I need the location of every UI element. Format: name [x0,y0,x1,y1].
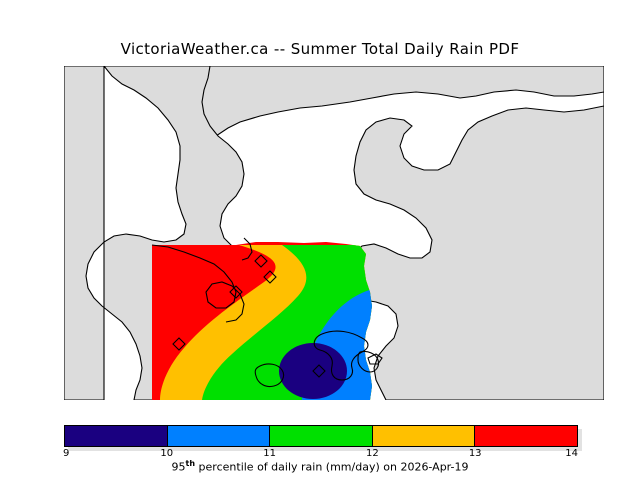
colorbar-tick-13: 13 [469,448,482,459]
colorbar-caption: 95th percentile of daily rain (mm/day) o… [0,459,640,474]
colorbar-band-13-14[interactable] [474,426,577,446]
colorbar-tick-11: 11 [263,448,276,459]
colorbar-tick-10: 10 [160,448,173,459]
map-graphic [64,66,604,400]
colorbar-tick-14: 14 [565,448,578,459]
contour-fill-layer [144,236,384,400]
colorbar-band-11-12[interactable] [269,426,372,446]
caption-prefix: 95 [172,461,186,474]
weather-map-figure: VictoriaWeather.ca -- Summer Total Daily… [0,0,640,480]
caption-superscript: th [186,459,196,468]
figure-title: VictoriaWeather.ca -- Summer Total Daily… [0,40,640,58]
colorbar-tick-9: 9 [63,448,69,459]
caption-suffix: percentile of daily rain (mm/day) on 202… [195,461,468,474]
colorbar-band-10-11[interactable] [167,426,270,446]
map-panel[interactable] [64,66,604,400]
colorbar-band-12-13[interactable] [372,426,475,446]
colorbar[interactable] [64,425,578,447]
colorbar-band-9-10[interactable] [65,426,167,446]
colorbar-tick-12: 12 [366,448,379,459]
